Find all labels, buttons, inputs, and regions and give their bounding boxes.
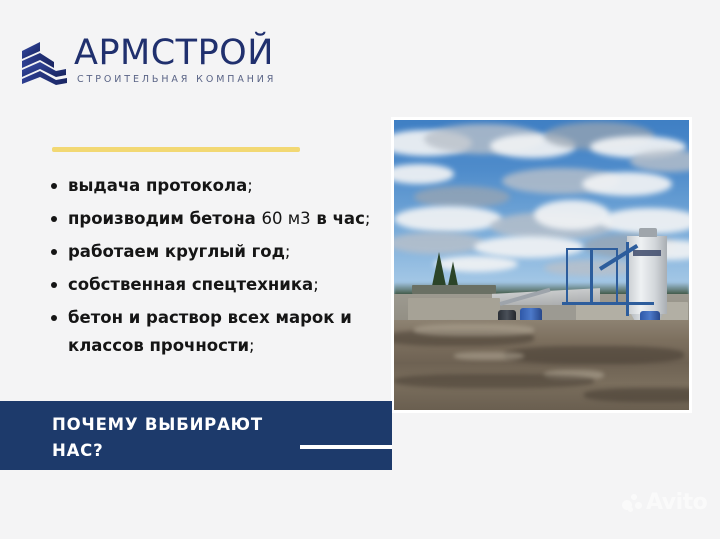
avito-dots-icon [622, 494, 642, 512]
avito-wordmark: Avito [646, 492, 707, 514]
cloud [394, 206, 502, 232]
features-list: выдача протокола; производим бетона 60 м… [46, 172, 386, 365]
banner-heading-line2: НАС? [52, 438, 352, 464]
company-logo: АРМСТРОЙ СТРОИТЕЛЬНАЯ КОМПАНИЯ [16, 34, 316, 96]
why-choose-us-banner: ПОЧЕМУ ВЫБИРАЮТ НАС? [0, 401, 392, 470]
list-item-text: выдача протокола [68, 176, 247, 195]
slide-canvas: АРМСТРОЙ СТРОИТЕЛЬНАЯ КОМПАНИЯ выдача пр… [0, 0, 720, 539]
list-item: работаем круглый год; [46, 238, 386, 266]
fence [412, 285, 496, 294]
logo-subtitle: СТРОИТЕЛЬНАЯ КОМПАНИЯ [74, 73, 276, 87]
dirt-patch [454, 352, 524, 360]
silo-label [633, 250, 661, 256]
list-item-value: 60 м3 [261, 209, 310, 228]
list-item-tail: ; [365, 209, 371, 228]
yellow-accent-rule [52, 147, 300, 152]
list-item-text: бетон и раствор всех марок и классов про… [68, 308, 352, 355]
armstroy-building-mark-icon [16, 37, 70, 87]
list-item-suffix: в час [311, 209, 365, 228]
list-item-tail: ; [249, 336, 255, 355]
dirt-patch [504, 346, 684, 364]
list-item: собственная спецтехника; [46, 271, 386, 299]
cloud [534, 200, 610, 230]
logo-text: АРМСТРОЙ СТРОИТЕЛЬНАЯ КОМПАНИЯ [74, 34, 276, 87]
list-item-prefix: производим бетона [68, 209, 261, 228]
photo-content [394, 120, 689, 410]
frame-beam [562, 302, 654, 305]
silo-cap [639, 228, 657, 237]
dirt-patch [394, 374, 594, 388]
conifer-tree [432, 252, 446, 286]
frame-post [590, 248, 593, 304]
list-item-tail: ; [313, 275, 319, 294]
list-item: производим бетона 60 м3 в час; [46, 205, 386, 233]
list-item-text: работаем круглый год [68, 242, 285, 261]
list-item-tail: ; [247, 176, 253, 195]
list-item: бетон и раствор всех марок и классов про… [46, 304, 386, 360]
list-item: выдача протокола; [46, 172, 386, 200]
dirt-patch [414, 324, 534, 336]
batching-plant-photo [391, 117, 692, 413]
banner-accent-rule [300, 445, 392, 449]
list-item-text: собственная спецтехника [68, 275, 313, 294]
list-item-tail: ; [285, 242, 291, 261]
banner-heading: ПОЧЕМУ ВЫБИРАЮТ НАС? [52, 412, 352, 464]
logo-wordmark: АРМСТРОЙ [74, 34, 276, 72]
banner-heading-line1: ПОЧЕМУ ВЫБИРАЮТ [52, 412, 352, 438]
cloud [582, 172, 672, 196]
dirt-patch [584, 388, 689, 402]
cloud [414, 186, 510, 208]
avito-watermark: Avito [622, 492, 707, 514]
